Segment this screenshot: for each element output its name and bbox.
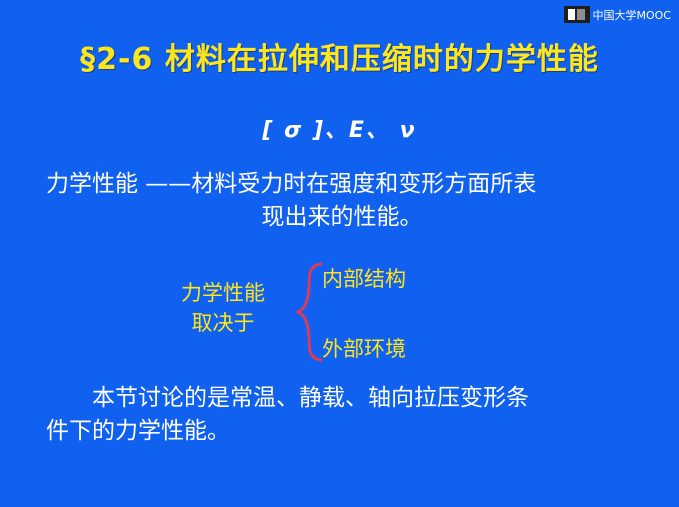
brace-label-line-1: 力学性能 bbox=[158, 278, 288, 308]
mooc-logo-text: 中国大学MOOC bbox=[593, 7, 672, 23]
curly-brace-icon bbox=[295, 262, 325, 362]
mooc-logo-icon bbox=[564, 6, 590, 23]
definition-block: 力学性能 ——材料受力时在强度和变形方面所表 现出来的性能。 bbox=[46, 168, 638, 234]
closing-block: 本节讨论的是常温、静载、轴向拉压变形条 件下的力学性能。 bbox=[46, 382, 642, 448]
definition-line-1: 力学性能 ——材料受力时在强度和变形方面所表 bbox=[46, 168, 638, 201]
closing-line-2: 件下的力学性能。 bbox=[46, 415, 642, 448]
brace-label: 力学性能 取决于 bbox=[158, 278, 288, 338]
brace-label-line-2: 取决于 bbox=[158, 308, 288, 338]
symbols-text: [ σ ]、E、 ν bbox=[262, 118, 416, 143]
slide-canvas: 中国大学MOOC §2-6 材料在拉伸和压缩时的力学性能 [ σ ]、E、 ν … bbox=[0, 0, 679, 507]
brace-item-1: 内部结构 bbox=[322, 263, 406, 293]
brace-item-2: 外部环境 bbox=[322, 333, 406, 363]
mooc-watermark: 中国大学MOOC bbox=[564, 6, 672, 23]
brace-group: 力学性能 取决于 内部结构 外部环境 bbox=[150, 258, 550, 368]
symbols-line: [ σ ]、E、 ν bbox=[0, 112, 679, 144]
page-title: §2-6 材料在拉伸和压缩时的力学性能 bbox=[0, 34, 679, 78]
closing-line-1: 本节讨论的是常温、静载、轴向拉压变形条 bbox=[46, 382, 642, 415]
definition-line-2: 现出来的性能。 bbox=[46, 201, 638, 234]
